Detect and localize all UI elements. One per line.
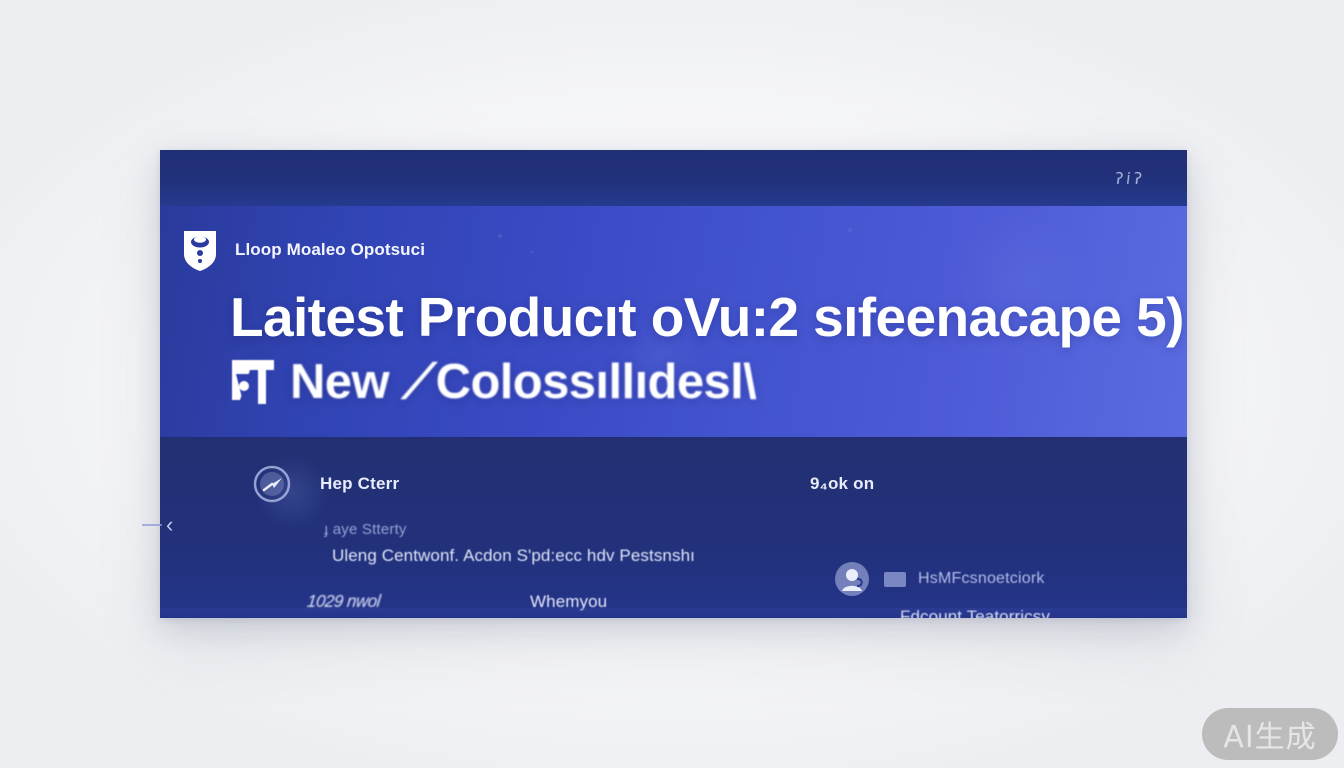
- headline-line-2-row: New ⟋Colossıllıdesl\: [230, 352, 1160, 412]
- card-topbar: ʔiʔ: [160, 150, 1187, 206]
- edge-line-decoration: [142, 524, 162, 526]
- right-column-row-1[interactable]: HsMFcsnoetciork: [832, 559, 1187, 599]
- left-column-title: Hep Cterr: [320, 474, 399, 494]
- brand-name: Lloop Moaleo Opotsuci: [235, 240, 425, 260]
- ai-generated-watermark: AI生成: [1202, 708, 1338, 760]
- prev-nav-control[interactable]: ‹: [142, 514, 173, 536]
- panel-bottom-strip: [160, 608, 1187, 618]
- right-column-title: 9₄ok on: [810, 474, 874, 494]
- ai-monogram-icon: [230, 356, 276, 408]
- left-column-subtitle-dim: ɟ aye Stterty: [324, 521, 812, 538]
- headset-avatar-icon: [832, 559, 872, 599]
- product-banner-card: ʔiʔ Lloop Moaleo Opotsuci Laitest Produc…: [160, 150, 1187, 618]
- left-column-header[interactable]: Hep Cterr: [252, 457, 812, 511]
- shield-icon: [180, 228, 220, 272]
- compass-clock-icon: [252, 464, 292, 504]
- right-column-text-dim: HsMFcsnoetciork: [918, 570, 1045, 588]
- left-column-description: Uleng Centwonf. Acdon S'pd:ecc hdv Pests…: [332, 546, 812, 566]
- card-content-clip: ʔiʔ Lloop Moaleo Opotsuci Laitest Produc…: [160, 150, 1187, 618]
- badge-chip-icon: [884, 572, 906, 587]
- brand-row[interactable]: Lloop Moaleo Opotsuci: [180, 228, 425, 272]
- panel-column-right: 9₄ok on HsMFcsnoetciork Fdcount Teatorri…: [810, 437, 1187, 618]
- headline-block: Laitest Producıt oVu:2 sıfeenacape 5) Ne…: [230, 286, 1160, 412]
- topbar-glyphs: ʔiʔ: [1114, 169, 1146, 188]
- headline-line-2-text: New ⟋Colossıllıdesl\: [290, 352, 756, 412]
- panel-column-left: Hep Cterr ɟ aye Stterty Uleng Centwonf. …: [252, 437, 812, 612]
- headline-line-1: Laitest Producıt oVu:2 sıfeenacape 5): [230, 286, 1160, 348]
- info-panel: Hep Cterr ɟ aye Stterty Uleng Centwonf. …: [160, 437, 1187, 618]
- right-column-header[interactable]: 9₄ok on: [810, 457, 1187, 511]
- watermark-label: AI生成: [1223, 712, 1316, 756]
- chevron-left-icon[interactable]: ‹: [166, 514, 173, 536]
